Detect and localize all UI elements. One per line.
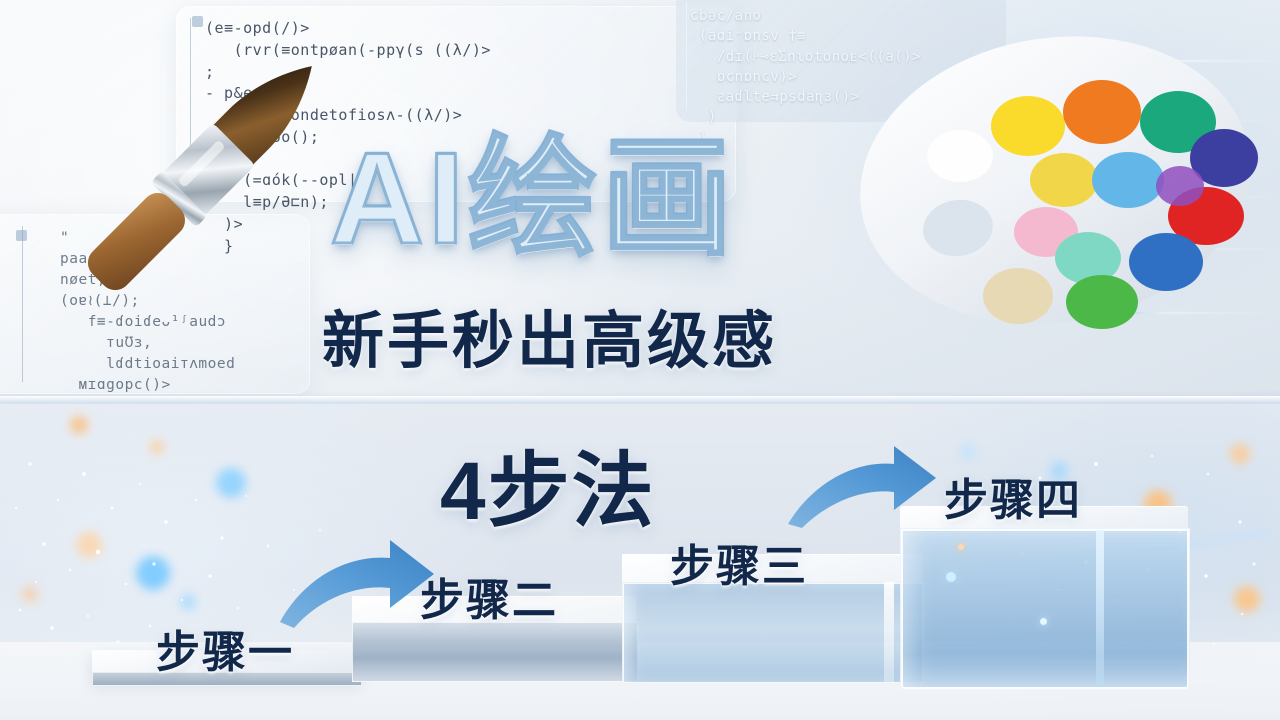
step-label-3: 步骤三 <box>670 530 808 594</box>
panel-rail <box>686 2 687 110</box>
step-inner-sparkle <box>1040 618 1047 625</box>
step-label-4: 步骤四 <box>944 464 1082 528</box>
panel-rail <box>22 226 23 382</box>
step-inner-sparkle <box>958 544 964 550</box>
method-title: 4步法 <box>440 424 656 543</box>
poster-canvas: (e≡-opd(/)> (rvr(≡ontpøan(-ppγ(s ((λ/)> … <box>0 0 1280 720</box>
top-banner: (e≡-opd(/)> (rvr(≡ontpøan(-ppγ(s ((λ/)> … <box>0 0 1280 404</box>
page-subtitle: 新手秒出高级感 <box>322 290 777 380</box>
step-platform-4[interactable] <box>900 506 1188 692</box>
step-front-face <box>900 528 1190 690</box>
paintbrush-icon <box>60 18 360 318</box>
step-front-face <box>622 582 924 684</box>
step-glass-highlight <box>884 582 894 682</box>
step-inner-sparkle <box>946 572 956 582</box>
page-title: AI绘画 <box>330 118 930 278</box>
step-glass-highlight <box>1096 530 1104 686</box>
arrow-step3-to-step4 <box>782 432 942 532</box>
arrow-step1-to-step2 <box>262 522 442 632</box>
